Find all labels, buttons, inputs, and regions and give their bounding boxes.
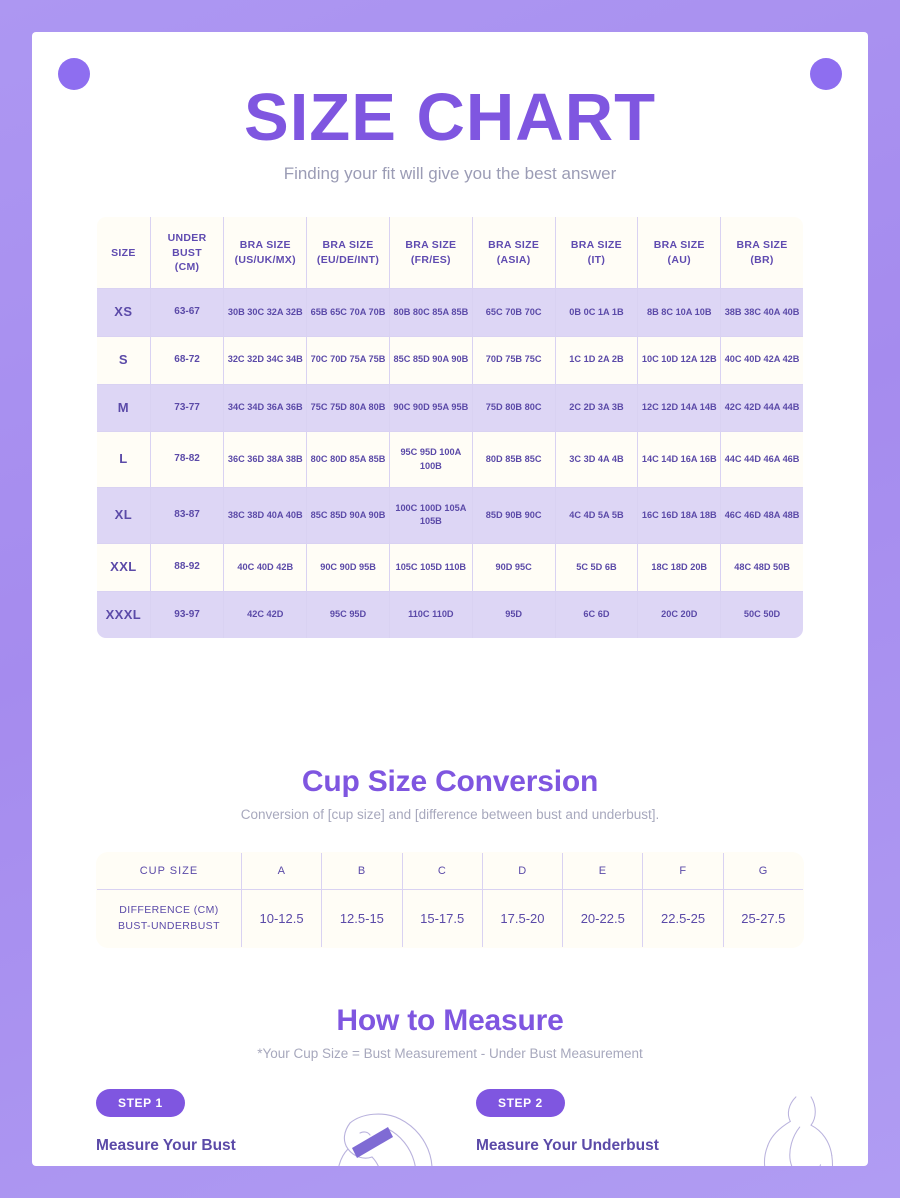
cell-fr-es: 100C 100D 105A 105B — [389, 488, 472, 544]
cell-au: 20C 20D — [638, 591, 721, 639]
cup-size-table: CUP SIZE A B C D E F G DIFFERENCE (CM) — [96, 852, 804, 947]
cell-au: 14C 14D 16A 16B — [638, 432, 721, 488]
col-header-eu-de-int-l2: (EU/DE/INT) — [317, 254, 379, 266]
cell-it: 4C 4D 5A 5B — [555, 488, 638, 544]
cell-size: L — [97, 432, 151, 488]
cup-diff-c: 15-17.5 — [402, 890, 482, 947]
cell-us-uk-mx: 40C 40D 42B — [224, 543, 307, 591]
cell-it: 1C 1D 2A 2B — [555, 336, 638, 384]
cup-diff-e: 20-22.5 — [563, 890, 643, 947]
measure-section-subtitle: *Your Cup Size = Bust Measurement - Unde… — [32, 1046, 868, 1061]
col-header-it: BRA SIZE (IT) — [555, 217, 638, 289]
cell-asia: 70D 75B 75C — [472, 336, 555, 384]
size-table: SIZE UNDER BUST (CM) BRA SIZE (US/UK/MX)… — [96, 216, 804, 639]
col-header-us-uk-mx-l1: BRA SIZE — [240, 239, 291, 251]
cell-eu-de-int: 65B 65C 70A 70B — [307, 288, 390, 336]
cell-under-bust: 93-97 — [150, 591, 224, 639]
cell-under-bust: 68-72 — [150, 336, 224, 384]
cell-it: 5C 5D 6B — [555, 543, 638, 591]
cell-size: XXL — [97, 543, 151, 591]
cup-section-subtitle: Conversion of [cup size] and [difference… — [32, 807, 868, 822]
col-header-au-l2: (AU) — [668, 254, 691, 266]
cell-eu-de-int: 85C 85D 90A 90B — [307, 488, 390, 544]
col-header-br-l2: (BR) — [750, 254, 773, 266]
cell-us-uk-mx: 34C 34D 36A 36B — [224, 384, 307, 432]
underbust-measure-illustration-icon: 90° — [701, 1095, 856, 1166]
cell-br: 50C 50D — [721, 591, 804, 639]
how-to-measure-section: How to Measure *Your Cup Size = Bust Mea… — [32, 1004, 868, 1061]
page-subtitle: Finding your fit will give you the best … — [32, 164, 868, 184]
cup-size-section: Cup Size Conversion Conversion of [cup s… — [32, 765, 868, 822]
step-1-badge: STEP 1 — [96, 1089, 185, 1117]
table-row: L 78-82 36C 36D 38A 38B 80C 80D 85A 85B … — [97, 432, 804, 488]
col-header-size: SIZE — [97, 217, 151, 289]
cup-row-label-l1: DIFFERENCE (CM) — [119, 904, 218, 916]
cell-size: S — [97, 336, 151, 384]
cell-asia: 90D 95C — [472, 543, 555, 591]
step-2-badge: STEP 2 — [476, 1089, 565, 1117]
table-row: XXXL 93-97 42C 42D 95C 95D 110C 110D 95D… — [97, 591, 804, 639]
cell-br: 48C 48D 50B — [721, 543, 804, 591]
cup-header-a: A — [241, 853, 321, 890]
cell-under-bust: 83-87 — [150, 488, 224, 544]
col-header-under-bust-l2: (CM) — [175, 261, 200, 273]
header: SIZE CHART Finding your fit will give yo… — [32, 32, 868, 184]
cell-size: XXXL — [97, 591, 151, 639]
cell-it: 6C 6D — [555, 591, 638, 639]
cup-diff-b: 12.5-15 — [322, 890, 402, 947]
size-table-body: XS 63-67 30B 30C 32A 32B 65B 65C 70A 70B… — [97, 288, 804, 639]
cup-header-b: B — [322, 853, 402, 890]
cup-header-c: C — [402, 853, 482, 890]
table-row: DIFFERENCE (CM) BUST-UNDERBUST 10-12.5 1… — [97, 890, 804, 947]
size-table-head: SIZE UNDER BUST (CM) BRA SIZE (US/UK/MX)… — [97, 217, 804, 289]
cell-us-uk-mx: 30B 30C 32A 32B — [224, 288, 307, 336]
cup-header-d: D — [482, 853, 562, 890]
col-header-size-l1: SIZE — [111, 247, 136, 259]
col-header-fr-es-l1: BRA SIZE — [405, 239, 456, 251]
cup-table-body: DIFFERENCE (CM) BUST-UNDERBUST 10-12.5 1… — [97, 890, 804, 947]
cup-header-g: G — [723, 853, 803, 890]
cell-us-uk-mx: 42C 42D — [224, 591, 307, 639]
cell-eu-de-int: 80C 80D 85A 85B — [307, 432, 390, 488]
col-header-eu-de-int: BRA SIZE (EU/DE/INT) — [307, 217, 390, 289]
cell-br: 46C 46D 48A 48B — [721, 488, 804, 544]
cell-under-bust: 78-82 — [150, 432, 224, 488]
cell-br: 40C 40D 42A 42B — [721, 336, 804, 384]
cell-eu-de-int: 95C 95D — [307, 591, 390, 639]
cup-diff-g: 25-27.5 — [723, 890, 803, 947]
cup-table-wrapper: CUP SIZE A B C D E F G DIFFERENCE (CM) — [32, 852, 868, 947]
decorative-dot-right-icon — [810, 58, 842, 90]
col-header-it-l1: BRA SIZE — [571, 239, 622, 251]
cell-fr-es: 85C 85D 90A 90B — [389, 336, 472, 384]
cell-fr-es: 110C 110D — [389, 591, 472, 639]
cell-under-bust: 73-77 — [150, 384, 224, 432]
cell-eu-de-int: 70C 70D 75A 75B — [307, 336, 390, 384]
cell-it: 0B 0C 1A 1B — [555, 288, 638, 336]
cell-under-bust: 88-92 — [150, 543, 224, 591]
col-header-fr-es: BRA SIZE (FR/ES) — [389, 217, 472, 289]
cell-au: 18C 18D 20B — [638, 543, 721, 591]
col-header-it-l2: (IT) — [588, 254, 606, 266]
measure-step-1: STEP 1 Measure Your Bust Bend your body … — [96, 1089, 424, 1166]
cell-fr-es: 95C 95D 100A 100B — [389, 432, 472, 488]
poster-card: SIZE CHART Finding your fit will give yo… — [32, 32, 868, 1166]
table-row: M 73-77 34C 34D 36A 36B 75C 75D 80A 80B … — [97, 384, 804, 432]
cup-table-head: CUP SIZE A B C D E F G — [97, 853, 804, 890]
col-header-br-l1: BRA SIZE — [737, 239, 788, 251]
col-header-eu-de-int-l1: BRA SIZE — [323, 239, 374, 251]
cell-us-uk-mx: 38C 38D 40A 40B — [224, 488, 307, 544]
cell-br: 44C 44D 46A 46B — [721, 432, 804, 488]
cell-asia: 65C 70B 70C — [472, 288, 555, 336]
measure-steps: STEP 1 Measure Your Bust Bend your body … — [32, 1089, 868, 1166]
measure-step-2: STEP 2 Measure Your Underbust Stand up s… — [476, 1089, 804, 1166]
cell-br: 38B 38C 40A 40B — [721, 288, 804, 336]
cup-diff-d: 17.5-20 — [482, 890, 562, 947]
cell-us-uk-mx: 32C 32D 34C 34B — [224, 336, 307, 384]
cell-au: 12C 12D 14A 14B — [638, 384, 721, 432]
cell-under-bust: 63-67 — [150, 288, 224, 336]
cup-header-e: E — [563, 853, 643, 890]
measure-section-title: How to Measure — [32, 1004, 868, 1038]
step-2-title: Measure Your Underbust — [476, 1137, 804, 1155]
poster-background: SIZE CHART Finding your fit will give yo… — [0, 0, 900, 1198]
cell-asia: 85D 90B 90C — [472, 488, 555, 544]
table-row: S 68-72 32C 32D 34C 34B 70C 70D 75A 75B … — [97, 336, 804, 384]
col-header-under-bust-l1: UNDER BUST — [168, 232, 207, 258]
cup-header-label: CUP SIZE — [97, 853, 242, 890]
cell-it: 3C 3D 4A 4B — [555, 432, 638, 488]
cell-fr-es: 80B 80C 85A 85B — [389, 288, 472, 336]
table-row: XL 83-87 38C 38D 40A 40B 85C 85D 90A 90B… — [97, 488, 804, 544]
cell-us-uk-mx: 36C 36D 38A 38B — [224, 432, 307, 488]
cell-size: XS — [97, 288, 151, 336]
table-row: XXL 88-92 40C 40D 42B 90C 90D 95B 105C 1… — [97, 543, 804, 591]
cell-size: M — [97, 384, 151, 432]
page-title: SIZE CHART — [32, 84, 868, 152]
cup-row-label: DIFFERENCE (CM) BUST-UNDERBUST — [97, 890, 242, 947]
size-table-header-row: SIZE UNDER BUST (CM) BRA SIZE (US/UK/MX)… — [97, 217, 804, 289]
cup-section-title: Cup Size Conversion — [32, 765, 868, 799]
cell-asia: 95D — [472, 591, 555, 639]
col-header-asia-l2: (ASIA) — [497, 254, 531, 266]
decorative-dot-left-icon — [58, 58, 90, 90]
table-row: XS 63-67 30B 30C 32A 32B 65B 65C 70A 70B… — [97, 288, 804, 336]
cell-asia: 80D 85B 85C — [472, 432, 555, 488]
col-header-under-bust: UNDER BUST (CM) — [150, 217, 224, 289]
cell-au: 8B 8C 10A 10B — [638, 288, 721, 336]
step-1-title: Measure Your Bust — [96, 1137, 424, 1155]
cup-diff-f: 22.5-25 — [643, 890, 723, 947]
col-header-fr-es-l2: (FR/ES) — [411, 254, 451, 266]
cell-it: 2C 2D 3A 3B — [555, 384, 638, 432]
bust-measure-illustration-icon: 45° — [322, 1105, 452, 1166]
cell-fr-es: 90C 90D 95A 95B — [389, 384, 472, 432]
col-header-au: BRA SIZE (AU) — [638, 217, 721, 289]
cell-eu-de-int: 75C 75D 80A 80B — [307, 384, 390, 432]
cell-size: XL — [97, 488, 151, 544]
cell-au: 10C 10D 12A 12B — [638, 336, 721, 384]
col-header-us-uk-mx-l2: (US/UK/MX) — [235, 254, 296, 266]
cup-diff-a: 10-12.5 — [241, 890, 321, 947]
col-header-br: BRA SIZE (BR) — [721, 217, 804, 289]
cell-eu-de-int: 90C 90D 95B — [307, 543, 390, 591]
col-header-asia-l1: BRA SIZE — [488, 239, 539, 251]
col-header-au-l1: BRA SIZE — [654, 239, 705, 251]
cell-br: 42C 42D 44A 44B — [721, 384, 804, 432]
col-header-us-uk-mx: BRA SIZE (US/UK/MX) — [224, 217, 307, 289]
size-table-wrapper: SIZE UNDER BUST (CM) BRA SIZE (US/UK/MX)… — [32, 216, 868, 639]
cell-au: 16C 16D 18A 18B — [638, 488, 721, 544]
cell-fr-es: 105C 105D 110B — [389, 543, 472, 591]
cup-header-f: F — [643, 853, 723, 890]
cell-asia: 75D 80B 80C — [472, 384, 555, 432]
cup-table-header-row: CUP SIZE A B C D E F G — [97, 853, 804, 890]
cup-row-label-l2: BUST-UNDERBUST — [118, 920, 220, 932]
col-header-asia: BRA SIZE (ASIA) — [472, 217, 555, 289]
